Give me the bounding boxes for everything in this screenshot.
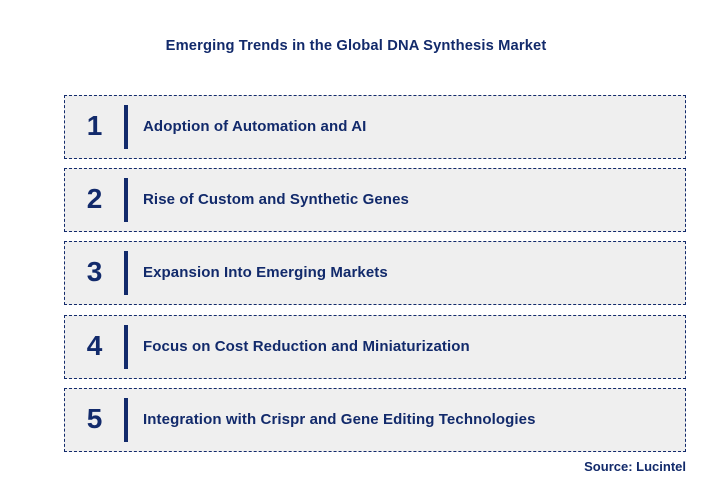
trend-list: 1 Adoption of Automation and AI 2 Rise o…: [64, 95, 686, 461]
source-attribution: Source: Lucintel: [584, 458, 686, 476]
page-title: Emerging Trends in the Global DNA Synthe…: [0, 36, 712, 56]
trend-label: Adoption of Automation and AI: [128, 117, 685, 137]
list-item: 5 Integration with Crispr and Gene Editi…: [64, 388, 686, 452]
rank-number: 5: [65, 404, 124, 436]
rank-number: 2: [65, 184, 124, 216]
list-item: 4 Focus on Cost Reduction and Miniaturiz…: [64, 315, 686, 379]
list-item: 2 Rise of Custom and Synthetic Genes: [64, 168, 686, 232]
rank-number: 4: [65, 331, 124, 363]
list-item: 3 Expansion Into Emerging Markets: [64, 241, 686, 305]
trend-label: Integration with Crispr and Gene Editing…: [128, 410, 685, 430]
trend-label: Rise of Custom and Synthetic Genes: [128, 190, 685, 210]
rank-number: 3: [65, 257, 124, 289]
rank-number: 1: [65, 111, 124, 143]
trend-label: Focus on Cost Reduction and Miniaturizat…: [128, 337, 685, 357]
trend-label: Expansion Into Emerging Markets: [128, 263, 685, 283]
infographic-canvas: Emerging Trends in the Global DNA Synthe…: [0, 0, 712, 501]
list-item: 1 Adoption of Automation and AI: [64, 95, 686, 159]
